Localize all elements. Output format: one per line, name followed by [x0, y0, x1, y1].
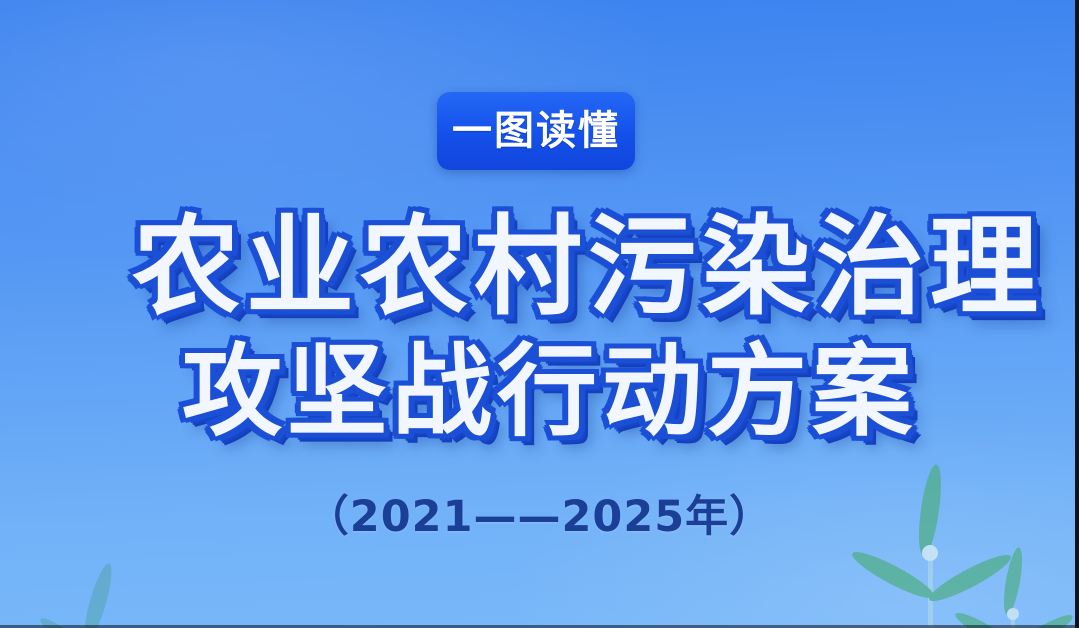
- subtitle-year-range: （2021——2025年）: [0, 482, 1079, 544]
- read-in-one-picture-badge[interactable]: 一图读懂: [437, 92, 635, 170]
- title-line-2: 攻坚战行动方案: [182, 342, 1079, 442]
- right-edge-border: [1075, 0, 1079, 628]
- poster-canvas: 一图读懂 农业农村污染治理 攻坚战行动方案 （2021——2025年）: [0, 0, 1079, 628]
- page-title: 农业农村污染治理 攻坚战行动方案: [0, 214, 1079, 442]
- wind-turbine-small: [945, 545, 1079, 628]
- badge-label: 一图读懂: [452, 111, 620, 151]
- title-line-1: 农业农村污染治理: [132, 214, 1079, 322]
- wind-turbine-faint: [40, 550, 200, 628]
